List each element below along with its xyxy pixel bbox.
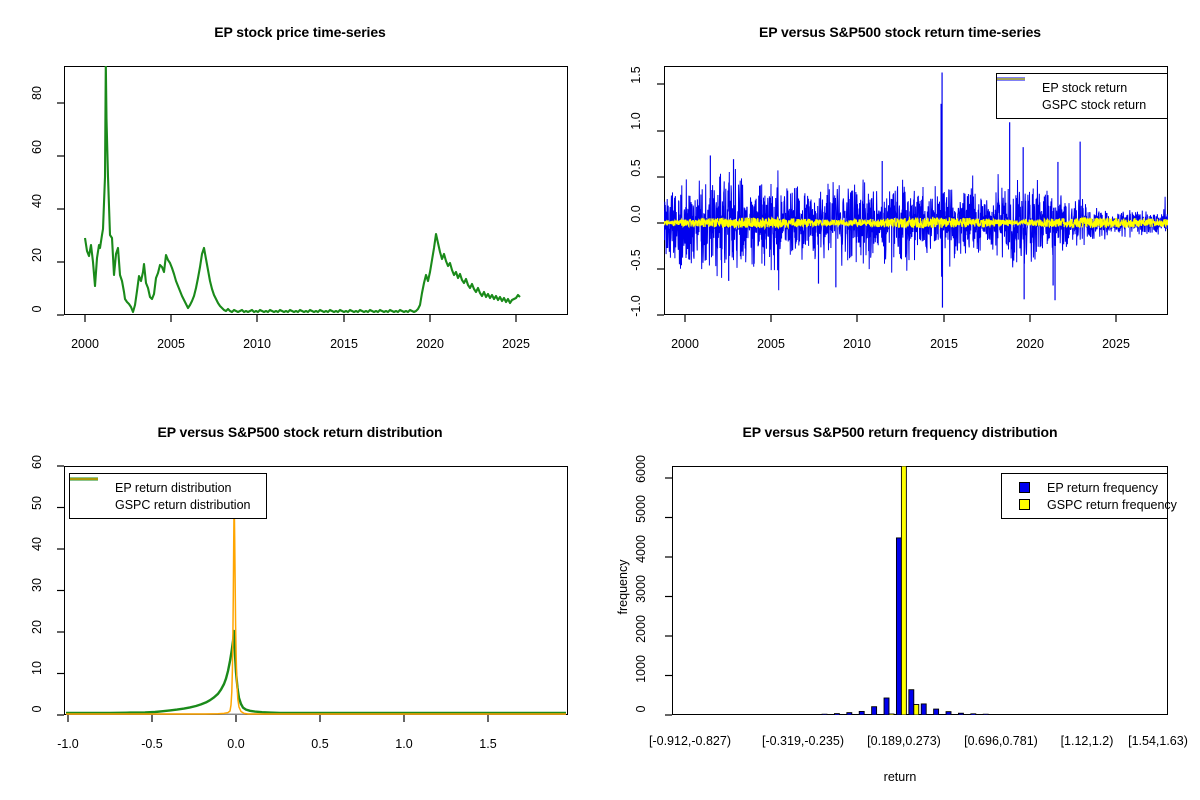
histogram-bar-gspc: [1137, 715, 1142, 717]
panel-return-distribution-canvas: [0, 400, 600, 800]
histogram-bar-ep: [1120, 715, 1125, 717]
histogram-bar-gspc: [963, 715, 968, 717]
histogram-bar-gspc: [1013, 715, 1018, 717]
legend-label-gspc-distribution: GSPC return distribution: [107, 498, 250, 512]
histogram-bar-ep: [946, 712, 951, 715]
histogram-bar-ep: [921, 704, 926, 715]
histogram-bar-ep: [760, 715, 765, 717]
histogram-bar-gspc: [939, 715, 944, 717]
histogram-bar-ep: [723, 715, 728, 717]
legend-label-ep-distribution: EP return distribution: [107, 481, 232, 495]
panel-return-frequency: EP versus S&P500 return frequency distri…: [600, 400, 1200, 800]
histogram-bar-gspc: [1087, 715, 1092, 717]
histogram-bar-ep: [1082, 715, 1087, 717]
histogram-bar-ep: [735, 715, 740, 717]
legend-item-gspc-return: GSPC stock return: [1004, 96, 1158, 113]
histogram-bar-gspc: [1025, 715, 1030, 717]
histogram-bar-ep: [983, 714, 988, 716]
panel-return-distribution: EP versus S&P500 stock return distributi…: [0, 400, 600, 800]
histogram-bar-ep: [1157, 715, 1162, 717]
panel-return-frequency-canvas: [600, 400, 1200, 800]
ep-density-curve: [66, 631, 566, 713]
histogram-bar-gspc: [802, 715, 807, 717]
histogram-bar-ep: [686, 715, 691, 717]
histogram-bar-ep: [1095, 715, 1100, 717]
return-timeseries-legend: EP stock return GSPC stock return: [996, 73, 1168, 119]
histogram-bar-gspc: [728, 715, 733, 717]
histogram-bar-gspc: [777, 715, 782, 717]
histogram-bar-ep: [1008, 715, 1013, 717]
legend-item-ep-return: EP stock return: [1004, 79, 1158, 96]
histogram-bar-gspc: [864, 715, 869, 717]
histogram-bar-ep: [710, 715, 715, 717]
legend-item-gspc-distribution: GSPC return distribution: [77, 496, 257, 513]
histogram-bar-ep: [772, 715, 777, 717]
panel-ep-price-canvas: [0, 0, 600, 400]
histogram-bar-ep: [1033, 715, 1038, 717]
legend-item-ep-frequency: EP return frequency: [1009, 479, 1158, 496]
histogram-bar-ep: [884, 698, 889, 715]
figure-grid: EP stock price time-series 0 20 40 60 80…: [0, 0, 1200, 800]
axis-ticks: [57, 103, 516, 322]
histogram-bar-ep: [934, 709, 939, 715]
histogram-bar-ep: [859, 711, 864, 715]
histogram-bar-gspc: [1100, 715, 1105, 717]
ep-price-line: [85, 63, 520, 312]
histogram-bar-gspc: [1125, 715, 1130, 717]
legend-label-ep-frequency: EP return frequency: [1039, 481, 1158, 495]
legend-square-gspc-icon: [1009, 499, 1039, 510]
histogram-bar-ep: [673, 715, 678, 717]
legend-label-gspc-return: GSPC stock return: [1034, 98, 1146, 112]
legend-square-ep-icon: [1009, 482, 1039, 493]
histogram-bar-ep: [785, 715, 790, 717]
histogram-bar-ep: [810, 715, 815, 717]
histogram-bar-gspc: [1149, 715, 1154, 717]
histogram-bar-gspc: [839, 715, 844, 717]
histogram-bar-gspc: [678, 715, 683, 717]
panel-return-timeseries-canvas: [600, 0, 1200, 400]
histogram-bar-ep: [1058, 715, 1063, 717]
legend-item-gspc-frequency: GSPC return frequency: [1009, 496, 1158, 513]
histogram-bar-ep: [996, 715, 1001, 717]
legend-label-ep-return: EP stock return: [1034, 81, 1127, 95]
histogram-bar-gspc: [827, 715, 832, 717]
legend-label-gspc-frequency: GSPC return frequency: [1039, 498, 1177, 512]
histogram-bar-gspc: [889, 714, 894, 716]
histogram-bar-ep: [748, 715, 753, 717]
histogram-bar-ep: [958, 713, 963, 715]
histogram-bar-gspc: [715, 715, 720, 717]
histogram-bar-gspc: [901, 466, 906, 715]
return-distribution-legend: EP return distribution GSPC return distr…: [69, 473, 267, 519]
histogram-bar-ep: [896, 538, 901, 715]
histogram-bar-ep: [1144, 715, 1149, 717]
histogram-bar-gspc: [951, 715, 956, 717]
histogram-bar-gspc: [753, 715, 758, 717]
histogram-bar-ep: [1132, 715, 1137, 717]
histogram-bar-gspc: [914, 705, 919, 715]
histogram-bar-gspc: [877, 715, 882, 717]
histogram-bar-ep: [834, 714, 839, 716]
histogram-bar-gspc: [1050, 715, 1055, 717]
histogram-bar-gspc: [1162, 715, 1167, 717]
histogram-bar-gspc: [765, 715, 770, 717]
panel-ep-price: EP stock price time-series 0 20 40 60 80…: [0, 0, 600, 400]
histogram-bar-ep: [1020, 715, 1025, 717]
histogram-bar-ep: [797, 715, 802, 717]
histogram-bar-ep: [909, 690, 914, 715]
histogram-bar-gspc: [976, 715, 981, 717]
histogram-bar-ep: [1107, 715, 1112, 717]
histogram-bar-ep: [822, 714, 827, 716]
histogram-bar-gspc: [1112, 715, 1117, 717]
histogram-bar-gspc: [790, 715, 795, 717]
histogram-bar-ep: [971, 714, 976, 716]
histogram-bar-ep: [1070, 715, 1075, 717]
histogram-bar-gspc: [1001, 715, 1006, 717]
histogram-bar-gspc: [691, 715, 696, 717]
panel-return-timeseries: EP versus S&P500 stock return time-serie…: [600, 0, 1200, 400]
histogram-bar-ep: [872, 707, 877, 715]
histogram-bar-gspc: [1075, 715, 1080, 717]
histogram-bar-gspc: [1063, 715, 1068, 717]
return-frequency-legend: EP return frequency GSPC return frequenc…: [1001, 473, 1168, 519]
histogram-bar-gspc: [740, 715, 745, 717]
axis-ticks: [665, 478, 672, 715]
histogram-bar-gspc: [926, 715, 931, 717]
legend-item-ep-distribution: EP return distribution: [77, 479, 257, 496]
histogram-bar-ep: [1045, 715, 1050, 717]
histogram-bar-gspc: [852, 715, 857, 717]
histogram-bar-ep: [847, 713, 852, 715]
histogram-bar-gspc: [1038, 715, 1043, 717]
gspc-density-curve: [66, 508, 566, 714]
histogram-bar-ep: [698, 715, 703, 717]
histogram-bar-gspc: [815, 715, 820, 717]
histogram-bar-gspc: [703, 715, 708, 717]
histogram-bar-gspc: [988, 715, 993, 717]
